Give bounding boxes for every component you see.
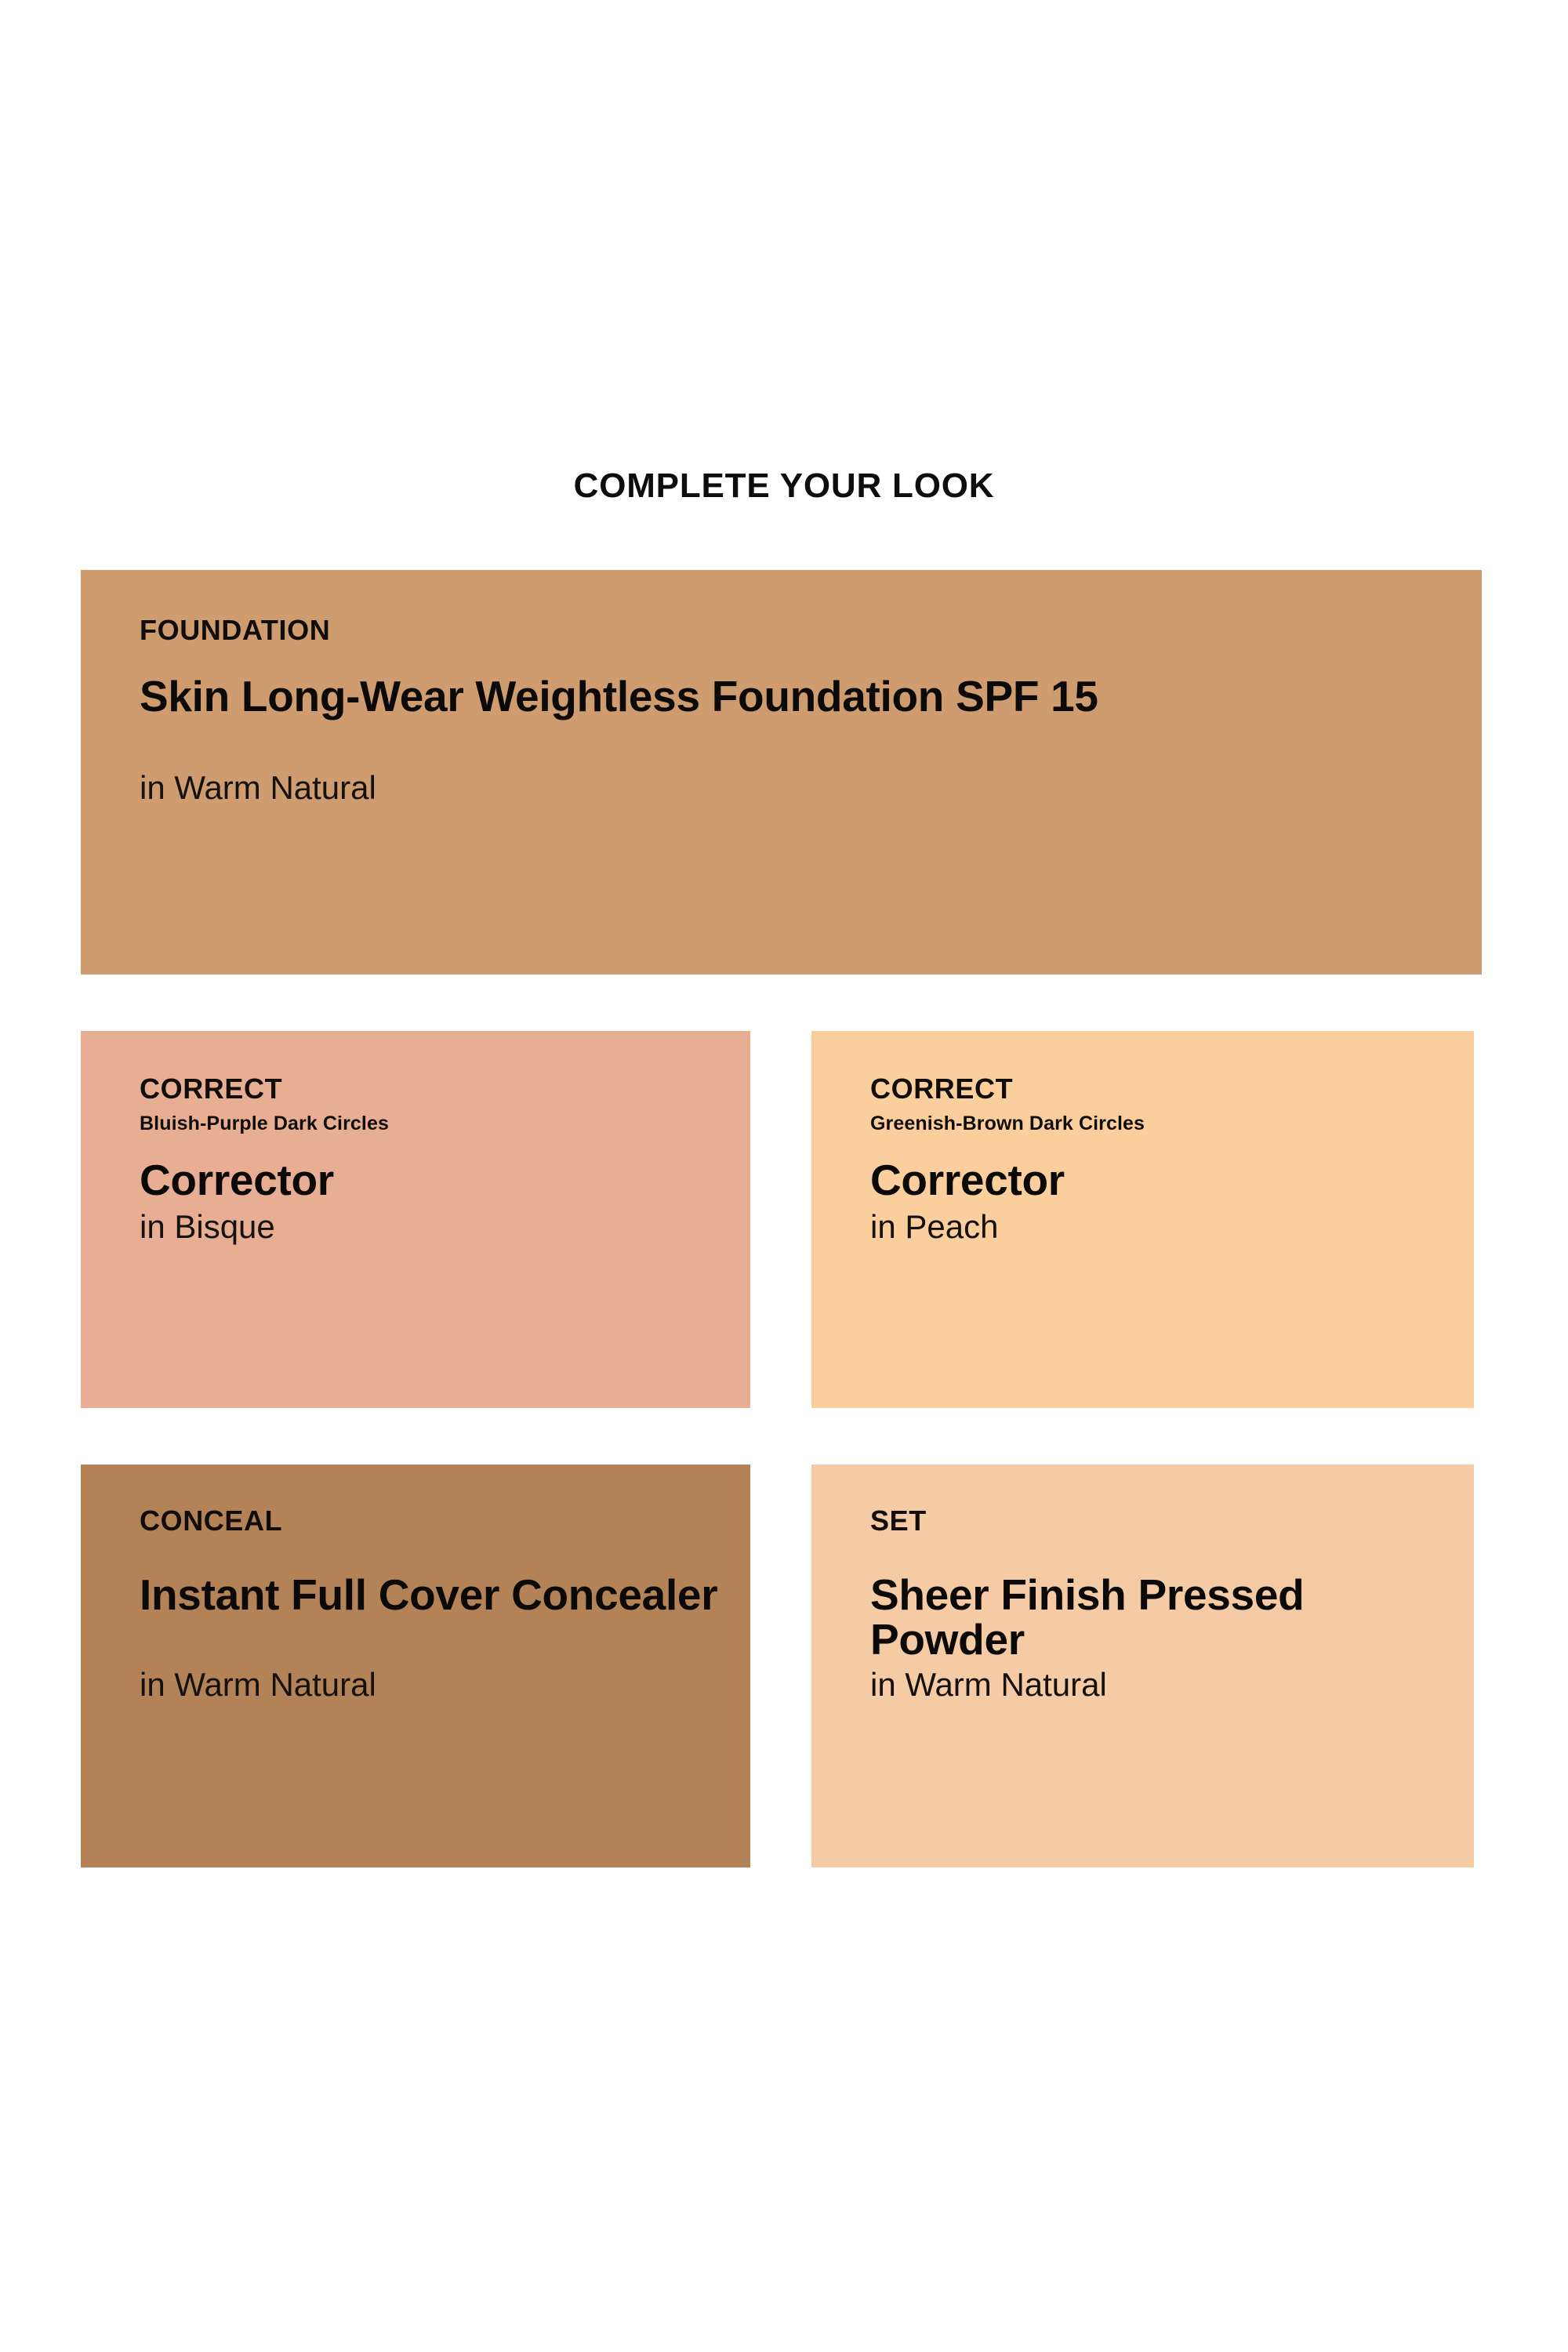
product-card-pressed-powder[interactable]: SET Sheer Finish Pressed Powder in Warm …: [811, 1465, 1474, 1867]
complete-your-look-panel: COMPLETE YOUR LOOK FOUNDATION Skin Long-…: [0, 0, 1568, 2352]
product-shade-corrector-peach: in Peach: [870, 1207, 998, 1247]
step-label-correct-peach: CORRECT: [870, 1073, 1013, 1105]
product-shade-corrector-bisque: in Bisque: [140, 1207, 275, 1247]
product-card-corrector-bisque[interactable]: CORRECT Bluish-Purple Dark Circles Corre…: [81, 1031, 750, 1408]
product-card-concealer[interactable]: CONCEAL Instant Full Cover Concealer in …: [81, 1465, 750, 1867]
product-name-pressed-powder: Sheer Finish Pressed Powder: [870, 1573, 1458, 1662]
product-shade-concealer: in Warm Natural: [140, 1665, 376, 1704]
step-sublabel-correct-peach: Greenish-Brown Dark Circles: [870, 1112, 1145, 1136]
step-label-correct-bisque: CORRECT: [140, 1073, 282, 1105]
product-name-concealer: Instant Full Cover Concealer: [140, 1573, 735, 1617]
page-title: COMPLETE YOUR LOOK: [0, 466, 1568, 506]
product-card-foundation[interactable]: FOUNDATION Skin Long-Wear Weightless Fou…: [81, 570, 1482, 975]
product-name-foundation: Skin Long-Wear Weightless Foundation SPF…: [140, 674, 1458, 719]
product-shade-pressed-powder: in Warm Natural: [870, 1665, 1107, 1704]
product-name-corrector-peach: Corrector: [870, 1158, 1458, 1203]
step-label-set: SET: [870, 1504, 927, 1537]
product-card-corrector-peach[interactable]: CORRECT Greenish-Brown Dark Circles Corr…: [811, 1031, 1474, 1408]
product-shade-foundation: in Warm Natural: [140, 768, 376, 808]
step-label-foundation: FOUNDATION: [140, 614, 330, 647]
step-sublabel-correct-bisque: Bluish-Purple Dark Circles: [140, 1112, 389, 1136]
product-name-corrector-bisque: Corrector: [140, 1158, 735, 1203]
step-label-conceal: CONCEAL: [140, 1504, 282, 1537]
